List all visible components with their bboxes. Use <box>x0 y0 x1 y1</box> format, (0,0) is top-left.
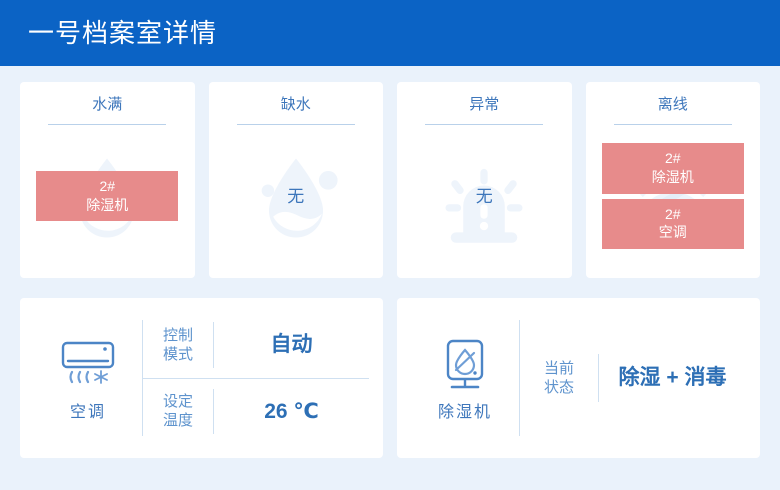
status-card-water-full[interactable]: 水满 2# 除湿机 <box>20 82 195 278</box>
status-card-title: 离线 <box>586 96 761 124</box>
status-card-abnormal[interactable]: 异常 无 <box>397 82 572 278</box>
detail-panel-dehumidifier[interactable]: 除湿机 当前 状态 除湿 + 消毒 <box>397 298 760 458</box>
attribute-row-set-temperature: 设定 温度 26 ℃ <box>143 378 369 445</box>
device-badge-name: 除湿机 <box>36 196 178 215</box>
device-attribute-table: 控制 模式 自动 设定 温度 26 ℃ <box>143 298 369 458</box>
attribute-label: 设定 温度 <box>143 392 213 430</box>
status-card-water-shortage[interactable]: 缺水 无 <box>209 82 384 278</box>
device-name: 空调 <box>70 405 106 421</box>
attribute-label-line2: 模式 <box>143 345 213 364</box>
status-card-title: 异常 <box>397 96 572 124</box>
device-name: 除湿机 <box>438 405 492 421</box>
device-badge[interactable]: 2# 空调 <box>602 199 744 250</box>
device-attribute-table: 当前 状态 除湿 + 消毒 <box>520 298 746 458</box>
status-empty-text: 无 <box>476 188 493 205</box>
status-card-title: 水满 <box>20 96 195 124</box>
status-card-row: 水满 2# 除湿机 <box>20 82 760 278</box>
device-identity: 除湿机 <box>411 336 519 421</box>
attribute-value: 除湿 + 消毒 <box>599 366 746 389</box>
status-empty-text: 无 <box>287 188 304 205</box>
app-root: 一号档案室详情 水满 2# <box>0 0 780 490</box>
attribute-row-control-mode: 控制 模式 自动 <box>143 312 369 378</box>
device-badge-number: 2# <box>602 205 744 224</box>
attribute-label: 控制 模式 <box>143 326 213 364</box>
device-badge-name: 空调 <box>602 223 744 242</box>
dehumidifier-icon <box>434 336 496 396</box>
detail-panel-row: 空调 控制 模式 自动 设定 温度 <box>20 298 760 458</box>
device-badge-number: 2# <box>36 177 178 196</box>
status-card-body: 2# 除湿机 2# 空调 <box>586 125 761 267</box>
page-header: 一号档案室详情 <box>0 0 780 66</box>
status-card-offline[interactable]: 离线 2# 除湿机 2# <box>586 82 761 278</box>
attribute-label-line1: 设定 <box>143 392 213 411</box>
status-card-body: 2# 除湿机 <box>20 125 195 267</box>
attribute-label-line1: 当前 <box>520 359 598 378</box>
device-badge-name: 除湿机 <box>602 168 744 187</box>
attribute-label-line2: 状态 <box>520 378 598 397</box>
device-identity: 空调 <box>34 336 142 421</box>
content-area: 水满 2# 除湿机 <box>0 66 780 472</box>
attribute-label-line2: 温度 <box>143 411 213 430</box>
attribute-row-current-status: 当前 状态 除湿 + 消毒 <box>520 354 746 402</box>
page-title: 一号档案室详情 <box>28 20 217 46</box>
device-badge[interactable]: 2# 除湿机 <box>602 143 744 194</box>
device-badge[interactable]: 2# 除湿机 <box>36 171 178 222</box>
attribute-value: 26 ℃ <box>214 400 369 423</box>
status-card-title: 缺水 <box>209 96 384 124</box>
attribute-label: 当前 状态 <box>520 359 598 397</box>
status-card-body: 无 <box>209 125 384 267</box>
attribute-value: 自动 <box>214 333 369 356</box>
attribute-label-line1: 控制 <box>143 326 213 345</box>
device-badge-number: 2# <box>602 149 744 168</box>
status-card-body: 无 <box>397 125 572 267</box>
air-conditioner-icon <box>57 336 119 396</box>
detail-panel-air-conditioner[interactable]: 空调 控制 模式 自动 设定 温度 <box>20 298 383 458</box>
